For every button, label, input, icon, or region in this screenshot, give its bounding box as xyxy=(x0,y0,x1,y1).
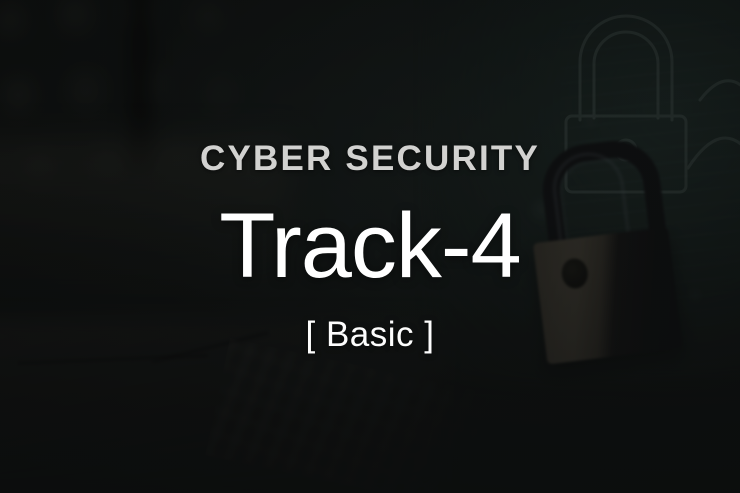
banner-eyebrow: CYBER SECURITY xyxy=(200,141,540,176)
page-title: Track-4 xyxy=(219,202,520,290)
difficulty-badge: [ Basic ] xyxy=(306,317,435,352)
banner-text-block: CYBER SECURITY Track-4 [ Basic ] xyxy=(0,0,740,493)
cyber-security-banner: CYBER SECURITY Track-4 [ Basic ] xyxy=(0,0,740,493)
